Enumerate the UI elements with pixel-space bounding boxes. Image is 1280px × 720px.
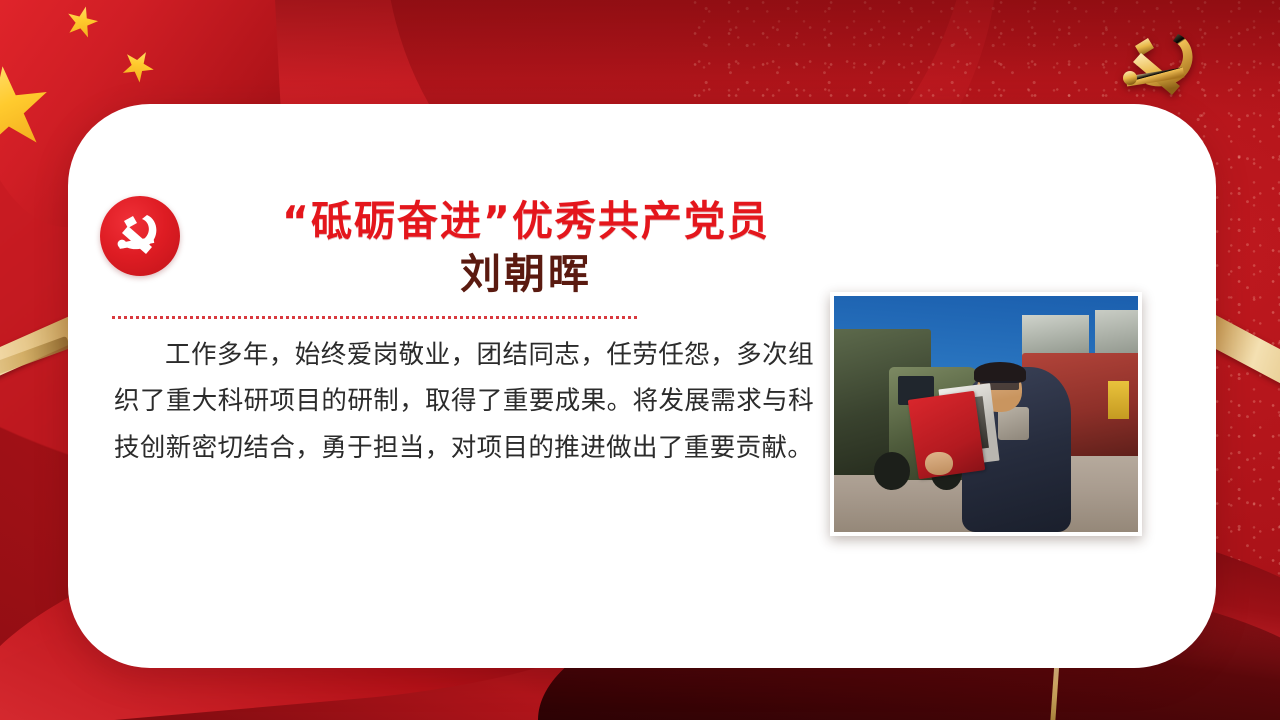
photo-person-scarf <box>998 407 1028 440</box>
title-block: “砥砺奋进”优秀共产党员 刘朝晖 <box>196 196 856 298</box>
photo-wheel-1 <box>874 452 910 490</box>
body-paragraph: 工作多年，始终爱岗敬业，团结同志，任劳任怨，多次组织了重大科研项目的研制，取得了… <box>114 332 814 471</box>
gold-hammer-sickle-icon <box>1108 26 1214 104</box>
page-title: “砥砺奋进”优秀共产党员 <box>196 196 856 246</box>
slide-canvas: “砥砺奋进”优秀共产党员 刘朝晖 工作多年，始终爱岗敬业，团结同志，任劳任怨，多… <box>0 0 1280 720</box>
photo-yellow-equipment <box>1108 381 1129 419</box>
person-photo <box>830 292 1142 536</box>
dotted-divider <box>112 316 640 319</box>
photo-person-hand <box>925 452 952 476</box>
person-photo-image <box>834 296 1138 532</box>
person-name: 刘朝晖 <box>196 250 856 298</box>
party-emblem-hammer-sickle-icon <box>114 210 166 262</box>
party-emblem-badge <box>100 196 180 276</box>
content-card: “砥砺奋进”优秀共产党员 刘朝晖 工作多年，始终爱岗敬业，团结同志，任劳任怨，多… <box>68 104 1216 668</box>
